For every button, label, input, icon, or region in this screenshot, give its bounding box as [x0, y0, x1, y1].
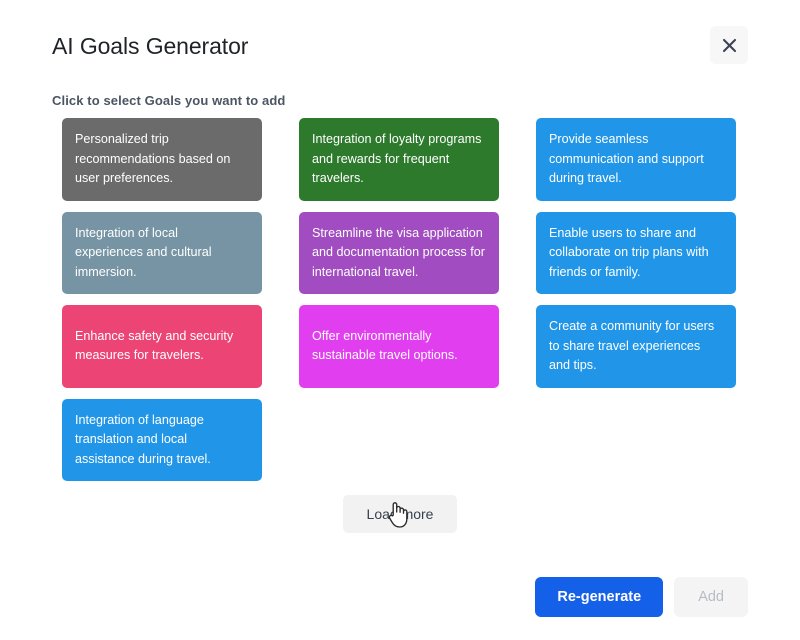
goal-card[interactable]: Integration of language translation and … — [62, 399, 262, 482]
close-button[interactable] — [710, 26, 748, 64]
goal-card[interactable]: Enable users to share and collaborate on… — [536, 212, 736, 295]
goal-card[interactable]: Integration of loyalty programs and rewa… — [299, 118, 499, 201]
goal-card[interactable]: Personalized trip recommendations based … — [62, 118, 262, 201]
modal-header: AI Goals Generator — [52, 24, 748, 68]
goal-card[interactable]: Provide seamless communication and suppo… — [536, 118, 736, 201]
page-title: AI Goals Generator — [52, 24, 748, 68]
goal-card[interactable]: Create a community for users to share tr… — [536, 305, 736, 388]
load-more-button[interactable]: Load more — [343, 495, 458, 533]
load-more-container: Load more — [0, 495, 800, 533]
footer-actions: Re-generate Add — [535, 577, 748, 617]
goal-card[interactable]: Offer environmentally sustainable travel… — [299, 305, 499, 388]
instruction-text: Click to select Goals you want to add — [52, 93, 285, 108]
add-button[interactable]: Add — [674, 577, 748, 617]
goal-card[interactable]: Integration of local experiences and cul… — [62, 212, 262, 295]
goal-card[interactable]: Streamline the visa application and docu… — [299, 212, 499, 295]
regenerate-button[interactable]: Re-generate — [535, 577, 663, 617]
goals-grid: Personalized trip recommendations based … — [62, 118, 742, 481]
ai-goals-generator-modal: AI Goals Generator Click to select Goals… — [0, 0, 800, 640]
close-icon — [721, 37, 738, 54]
goal-card[interactable]: Enhance safety and security measures for… — [62, 305, 262, 388]
